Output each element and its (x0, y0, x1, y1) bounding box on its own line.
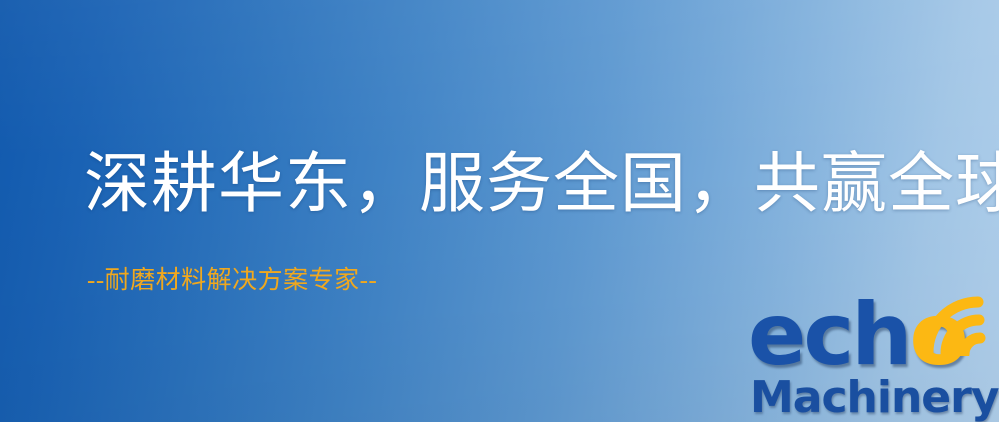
promo-banner: 深耕华东，服务全国，共赢全球 --耐磨材料解决方案专家-- echo Machi… (0, 0, 999, 422)
logo-tagline: Machinery® (750, 368, 999, 422)
signal-waves-icon (920, 294, 999, 356)
logo-tagline-text: Machinery (750, 372, 999, 422)
banner-subtitle: --耐磨材料解决方案专家-- (87, 268, 377, 293)
echo-machinery-logo: echo Machinery® (748, 296, 999, 422)
banner-headline: 深耕华东，服务全国，共赢全球 (84, 152, 999, 218)
